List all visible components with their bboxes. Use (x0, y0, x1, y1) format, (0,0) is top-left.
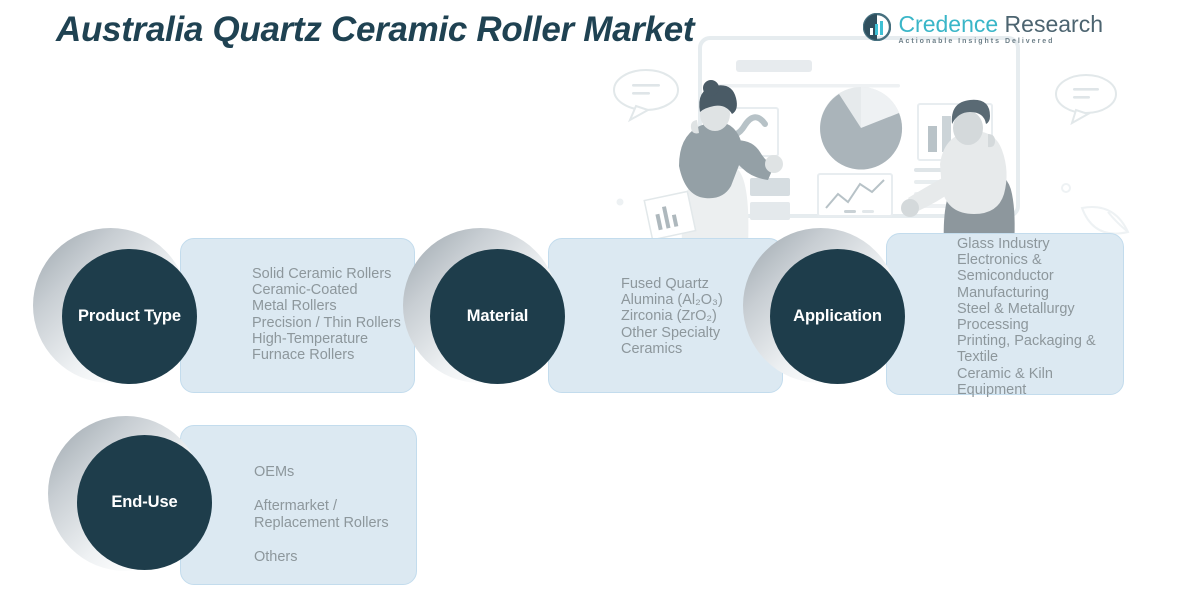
logo-text: Credence Research Actionable Insights De… (898, 12, 1103, 45)
bubble-label-product-type: Product Type (78, 307, 181, 326)
brand-logo: Credence Research Actionable Insights De… (863, 12, 1103, 45)
logo-name-part2: Research (998, 11, 1103, 37)
panel-text-product-type: Solid Ceramic Rollers Ceramic-Coated Met… (252, 266, 417, 363)
bubble-label-application: Application (793, 307, 882, 326)
bar-chart-circle-icon (863, 13, 891, 41)
page-title: Australia Quartz Ceramic Roller Market (56, 10, 694, 50)
bubble-application[interactable]: Application (770, 249, 905, 384)
panel-text-end-use: OEMs Aftermarket / Replacement Rollers O… (254, 464, 424, 566)
panel-text-application: Glass Industry Electronics & Semiconduct… (957, 236, 1133, 398)
infographic-canvas: Australia Quartz Ceramic Roller Market C… (0, 0, 1203, 612)
logo-name-part1: Credence (898, 11, 998, 37)
bubble-product-type[interactable]: Product Type (62, 249, 197, 384)
business-analytics-presentation-illustration (596, 16, 1156, 266)
logo-name: Credence Research (898, 12, 1103, 37)
logo-tagline: Actionable Insights Delivered (898, 38, 1103, 45)
bubble-end-use[interactable]: End-Use (77, 435, 212, 570)
bubble-label-end-use: End-Use (111, 493, 177, 512)
bubble-label-material: Material (467, 307, 529, 326)
bubble-material[interactable]: Material (430, 249, 565, 384)
